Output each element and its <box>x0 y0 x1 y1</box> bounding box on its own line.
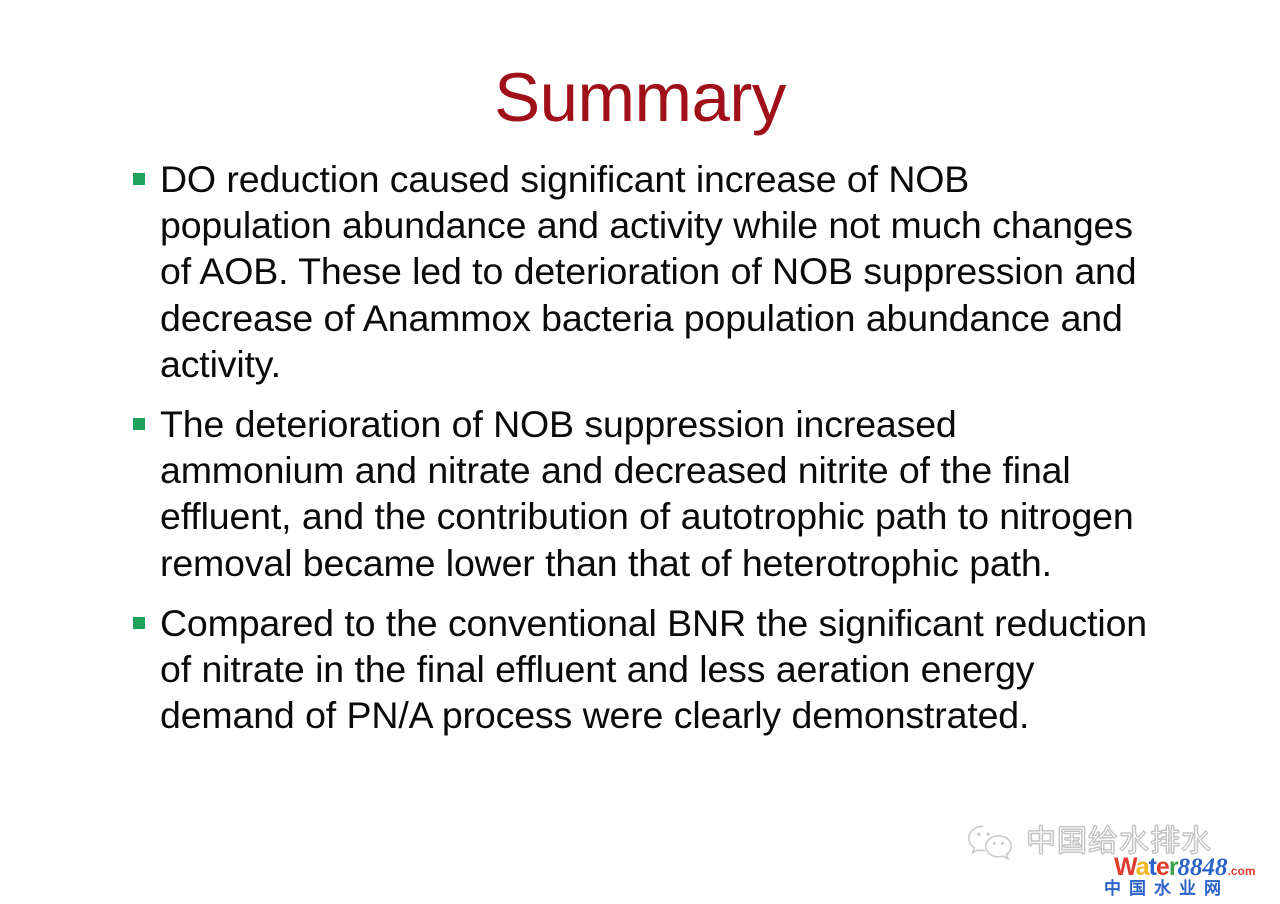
brand-letter-a: a <box>1136 853 1149 881</box>
list-item: DO reduction caused significant increase… <box>126 156 1151 387</box>
brand-letter-e: e <box>1156 853 1169 881</box>
list-item-text: DO reduction caused significant increase… <box>160 158 1136 385</box>
brand-letter-t: t <box>1149 853 1156 881</box>
wechat-icon <box>966 822 1018 862</box>
green-square-bullet-icon <box>133 617 145 629</box>
green-square-bullet-icon <box>133 173 145 185</box>
watermark-cn-blue-text: 中国水业网 <box>1104 879 1229 899</box>
watermark: 中国给水排水 Water8848.com 中国水业网 <box>966 822 1276 902</box>
list-item-text: Compared to the conventional BNR the sig… <box>160 602 1147 736</box>
watermark-brand-logo: Water8848.com <box>1114 854 1256 884</box>
brand-letter-r: r <box>1169 853 1178 881</box>
green-square-bullet-icon <box>133 418 145 430</box>
slide-canvas: Summary DO reduction caused significant … <box>0 0 1280 904</box>
list-item-text: The deterioration of NOB suppression inc… <box>160 403 1134 584</box>
brand-tld: .com <box>1228 864 1256 878</box>
brand-number: 8848 <box>1178 854 1228 881</box>
bullet-list: DO reduction caused significant increase… <box>126 156 1151 738</box>
list-item: The deterioration of NOB suppression inc… <box>126 401 1151 586</box>
list-item: Compared to the conventional BNR the sig… <box>126 600 1151 739</box>
page-title: Summary <box>0 58 1280 138</box>
watermark-top-row: 中国给水排水 <box>966 822 1212 862</box>
brand-letter-w: W <box>1114 853 1136 881</box>
watermark-cn-gray-text: 中国给水排水 <box>1026 824 1212 860</box>
